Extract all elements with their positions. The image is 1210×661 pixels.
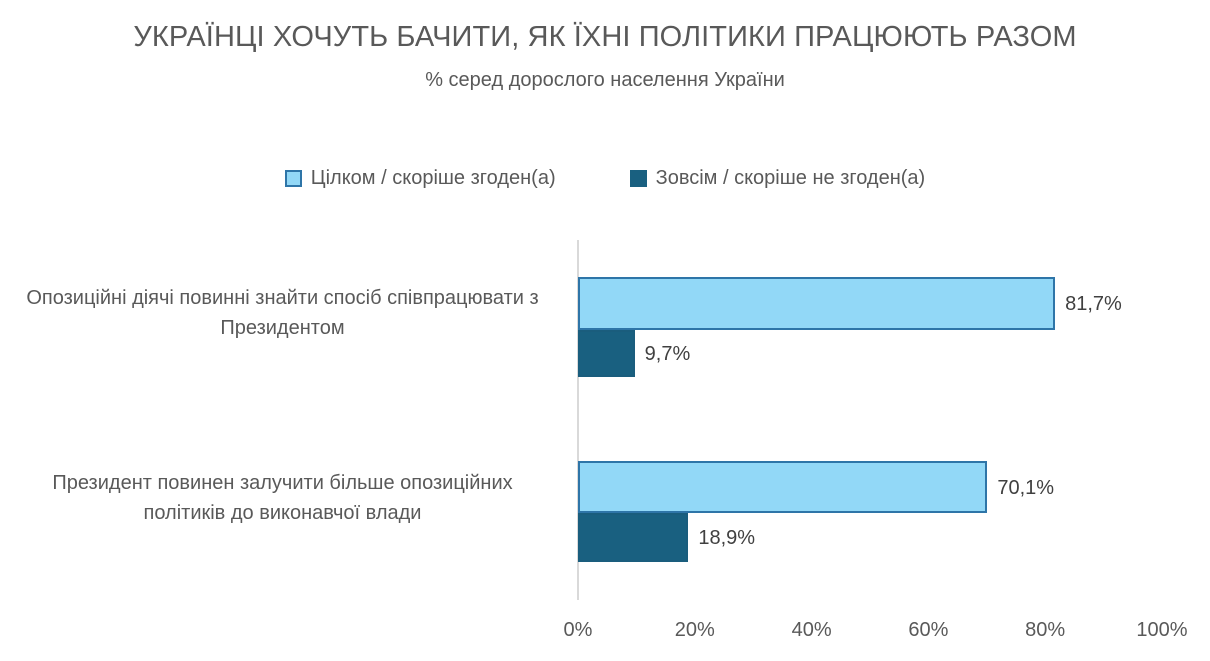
x-tick-label-100: 100% bbox=[1136, 618, 1187, 642]
x-tick-label-80: 80% bbox=[1025, 618, 1065, 642]
bar-group0-agree[interactable] bbox=[578, 277, 1055, 330]
bar-group1-disagree[interactable] bbox=[578, 513, 688, 562]
bar-group1-agree[interactable] bbox=[578, 461, 987, 513]
bar-group0-disagree[interactable] bbox=[578, 330, 635, 377]
category-label-0: Опозиційні діячі повинні знайти спосіб с… bbox=[10, 283, 555, 343]
x-tick-label-60: 60% bbox=[908, 618, 948, 642]
x-tick-label-40: 40% bbox=[792, 618, 832, 642]
x-tick-label-0: 0% bbox=[564, 618, 593, 642]
plot-area: Опозиційні діячі повинні знайти спосіб с… bbox=[0, 0, 1210, 661]
category-label-1: Президент повинен залучити більше опозиц… bbox=[10, 468, 555, 528]
bar-value-group1-disagree: 18,9% bbox=[698, 528, 755, 548]
bar-value-group1-agree: 70,1% bbox=[997, 478, 1054, 498]
bar-value-group0-disagree: 9,7% bbox=[645, 344, 691, 364]
x-tick-label-20: 20% bbox=[675, 618, 715, 642]
chart-container: УКРАЇНЦІ ХОЧУТЬ БАЧИТИ, ЯК ЇХНІ ПОЛІТИКИ… bbox=[0, 0, 1210, 661]
bar-value-group0-agree: 81,7% bbox=[1065, 294, 1122, 314]
